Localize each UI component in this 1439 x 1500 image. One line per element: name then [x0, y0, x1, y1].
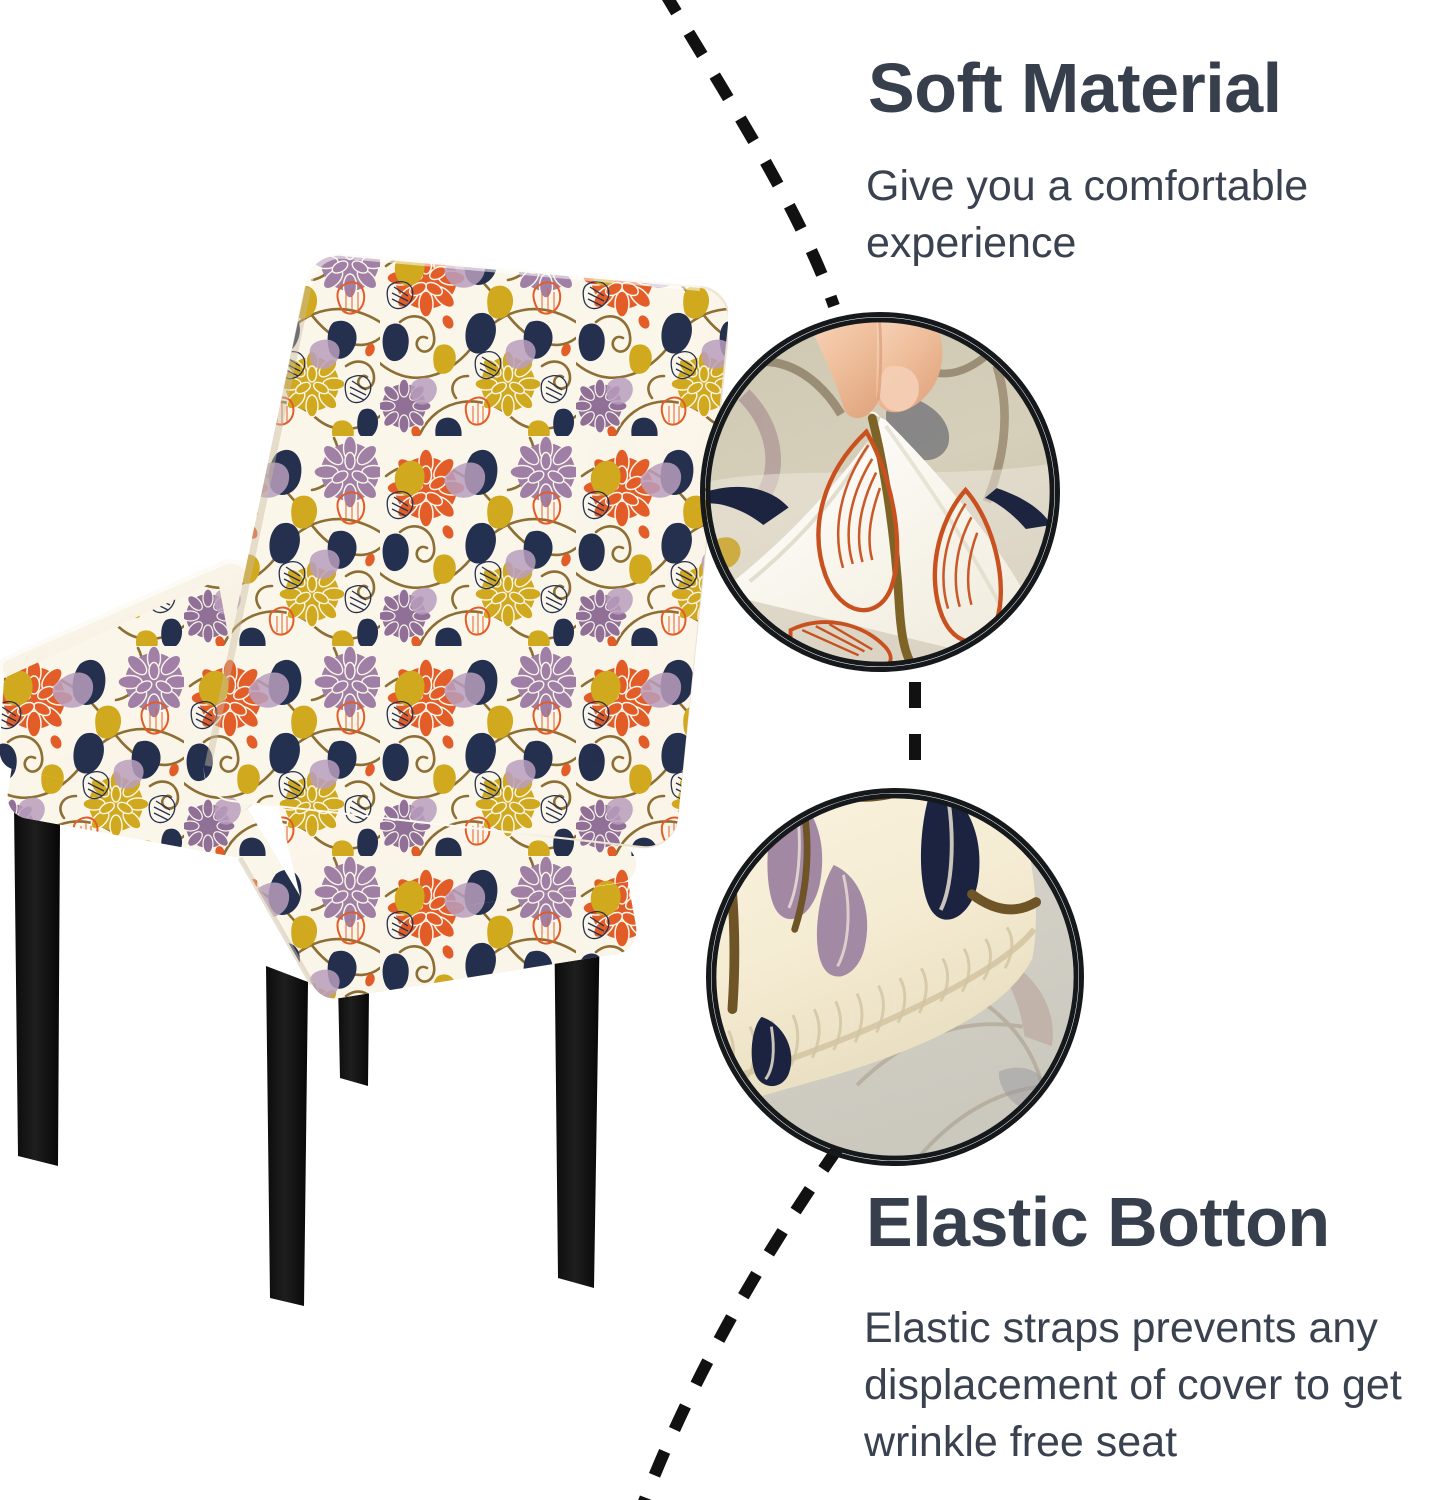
elastic-hem-callout-photo: [706, 788, 1084, 1166]
elastic-botton-description: Elastic straps prevents any displacement…: [864, 1300, 1429, 1470]
infographic-canvas: Soft Material Give you a comfortable exp…: [0, 0, 1439, 1500]
soft-material-headline: Soft Material: [868, 52, 1282, 126]
elastic-botton-headline: Elastic Botton: [866, 1186, 1330, 1260]
soft-material-callout-photo: [700, 312, 1060, 672]
product-chair-image: [0, 226, 728, 1306]
soft-material-description: Give you a comfortable experience: [866, 158, 1431, 272]
